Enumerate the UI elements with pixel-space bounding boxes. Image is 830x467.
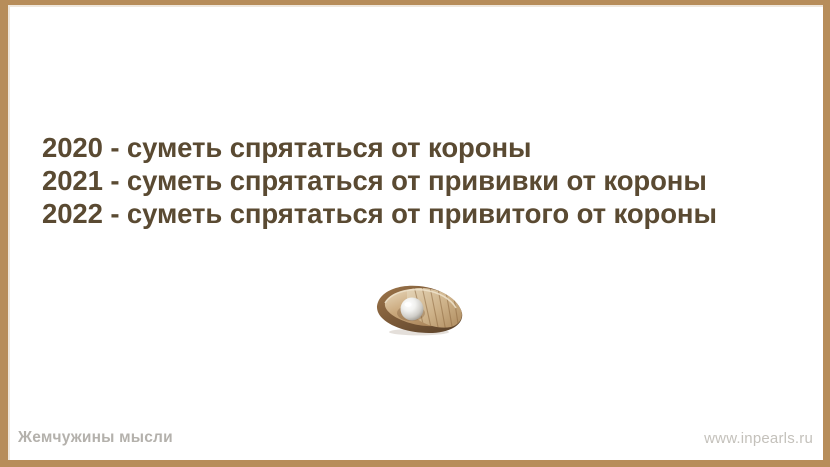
quote-line-2020: 2020 - суметь спрятаться от короны: [42, 131, 794, 164]
frame-inner-bevel: [8, 5, 823, 460]
oyster-shell-with-pearl-icon: [367, 280, 467, 338]
quote-line-2022: 2022 - суметь спрятаться от привитого от…: [42, 197, 794, 230]
quote-poster: 2020 - суметь спрятаться от короны 2021 …: [0, 0, 830, 467]
site-name-label: Жемчужины мысли: [18, 429, 173, 447]
frame-border-top: [0, 0, 830, 5]
frame-border-left: [0, 0, 8, 467]
quote-text-block: 2020 - суметь спрятаться от короны 2021 …: [42, 131, 794, 230]
site-url-label[interactable]: www.inpearls.ru: [704, 430, 813, 447]
quote-line-2021: 2021 - суметь спрятаться от прививки от …: [42, 164, 794, 197]
frame-border-right: [823, 0, 830, 467]
frame-border-bottom: [0, 460, 830, 467]
